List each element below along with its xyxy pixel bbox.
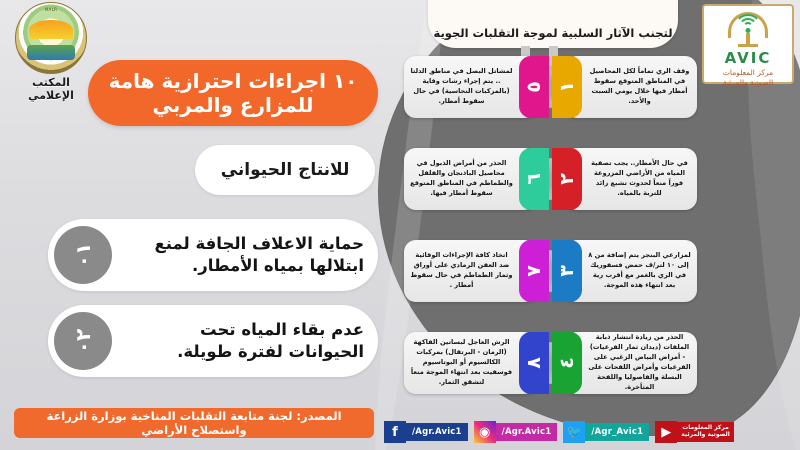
satellite-dish-icon <box>725 11 771 45</box>
shield-item-7: اتخاذ كافة الإجراءات الوقائية ضد العفن ا… <box>404 240 549 302</box>
shield-item-text: الرش العاجل لبساتين الفاكهة (الرمان - ال… <box>404 338 519 387</box>
shield-item-number: ٣ <box>552 240 582 302</box>
shield-item-number: ٢ <box>552 148 582 210</box>
shield-item-text: الحذر من أمراض الذبول في محاصيل الباذنجا… <box>404 159 519 199</box>
shield-item-3: لمزارعي البنجر يتم إضافة من ٨ إلى ١٠ لتر… <box>552 240 697 302</box>
social-link-twitter[interactable]: 🐦 /Agr_Avic1 <box>563 421 649 443</box>
list-item: ٠١ حماية الاعلاف الجافة لمنع ابتلالها بم… <box>48 219 378 291</box>
avic-logo: AVIC مركز المعلومات الصوتية والمرئية <box>702 4 794 84</box>
shield-item-number: ٥ <box>519 56 549 118</box>
shield-header-title: لتجنب الآثار السلبية لموجة التقلبات الجو… <box>428 0 678 48</box>
main-headline: ١٠ اجراءات احترازية هامة للمزارع والمربي <box>88 60 378 126</box>
shield-item-2: في حال الأمطار.. يجب تصفية المياه من الأ… <box>552 148 697 210</box>
avic-name: AVIC <box>704 49 792 67</box>
seal-top-text: MALR <box>16 7 86 12</box>
item-number-badge: ٠١ <box>54 226 112 284</box>
shield-item-text: اتخاذ كافة الإجراءات الوقائية ضد العفن ا… <box>404 251 519 291</box>
facebook-icon: f <box>384 421 406 443</box>
shield-item-number: ٨ <box>519 332 549 394</box>
twitter-icon: 🐦 <box>563 421 585 443</box>
shield-item-text: الحذر من زيادة انتشار ذبابة الملفات (ديد… <box>582 333 697 392</box>
shield-item-1: وقف الري تماماً لكل المحاصيل في المناطق … <box>552 56 697 118</box>
avic-subtitle-line1: مركز المعلومات <box>704 68 792 77</box>
item-text: حماية الاعلاف الجافة لمنع ابتلالها بمياه… <box>116 233 378 277</box>
media-office-label: المكتب الإعلامي <box>8 76 94 102</box>
ministry-seal-icon: MALR <box>15 2 87 74</box>
social-link-instagram[interactable]: ◉ /Agr.Avic1 <box>474 421 558 443</box>
shield-item-8: الرش العاجل لبساتين الفاكهة (الرمان - ال… <box>404 332 549 394</box>
social-bar: f /Agr.Avic1 ◉ /Agr.Avic1 🐦 /Agr_Avic1 ▶… <box>384 414 800 450</box>
shield-item-text: لمزارعي البنجر يتم إضافة من ٨ إلى ١٠ لتر… <box>582 251 697 291</box>
shield-item-text: وقف الري تماماً لكل المحاصيل في المناطق … <box>582 67 697 107</box>
shield-item-number: ١ <box>552 56 582 118</box>
list-item: ٠٢ عدم بقاء المياه تحت الحيوانات لفترة ط… <box>48 305 378 377</box>
shield-item-number: ٤ <box>552 332 582 394</box>
shield-item-6: الحذر من أمراض الذبول في محاصيل الباذنجا… <box>404 148 549 210</box>
instagram-icon: ◉ <box>474 421 496 443</box>
item-text: عدم بقاء المياه تحت الحيوانات لفترة طويل… <box>116 319 378 363</box>
youtube-handle: مركز المعلومات الصوتية والمرئية <box>677 422 734 442</box>
shield-item-text: لمشاتل البصل في مناطق الدلتا .. يتم إجرا… <box>404 67 519 107</box>
animal-production-subtitle: للانتاج الحيواني <box>195 145 375 195</box>
social-link-facebook[interactable]: f /Agr.Avic1 <box>384 421 468 443</box>
shield-item-text: في حال الأمطار.. يجب تصفية المياه من الأ… <box>582 159 697 199</box>
shield-item-number: ٦ <box>519 148 549 210</box>
shield-item-5: لمشاتل البصل في مناطق الدلتا .. يتم إجرا… <box>404 56 549 118</box>
youtube-handle-line2: الصوتية والمرئية <box>681 432 730 439</box>
youtube-icon: ▶ <box>655 421 677 443</box>
item-number-badge: ٠٢ <box>54 312 112 370</box>
twitter-handle: /Agr_Avic1 <box>585 423 649 441</box>
instagram-handle: /Agr.Avic1 <box>496 423 558 441</box>
source-bar: المصدر: لجنة متابعة التقلبات المناخية بو… <box>14 408 374 438</box>
shield-item-4: الحذر من زيادة انتشار ذبابة الملفات (ديد… <box>552 332 697 394</box>
facebook-handle: /Agr.Avic1 <box>406 423 468 441</box>
avic-subtitle-line2: الصوتية والمرئية <box>704 78 792 87</box>
social-link-youtube[interactable]: ▶ مركز المعلومات الصوتية والمرئية <box>655 421 734 443</box>
ministry-logo: MALR المكتب الإعلامي <box>8 2 94 102</box>
shield-item-number: ٧ <box>519 240 549 302</box>
infographic-canvas: MALR المكتب الإعلامي AVIC مركز المعلومات… <box>0 0 800 450</box>
